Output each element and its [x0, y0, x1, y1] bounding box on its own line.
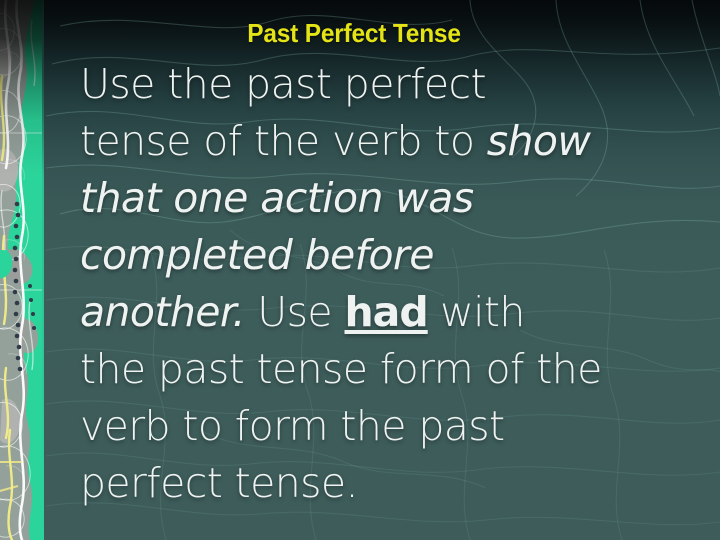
body-segment-italic: that one action was	[80, 174, 473, 222]
slide-canvas: Past Perfect Tense Use the past perfect …	[0, 0, 720, 540]
slide-body-text: Use the past perfect tense of the verb t…	[80, 56, 710, 512]
body-segment: tense of the verb to	[80, 117, 487, 165]
body-line: Use the past perfect	[80, 56, 710, 113]
body-segment-italic: another.	[80, 288, 245, 336]
body-line: another. Use had with	[80, 284, 710, 341]
body-segment: with	[428, 288, 525, 336]
body-segment: Use	[245, 288, 345, 336]
body-segment: the past tense form of the	[80, 345, 602, 393]
map-texture-graphic	[0, 0, 44, 540]
body-line: perfect tense.	[80, 455, 710, 512]
body-segment-emphasis-had: had	[344, 288, 427, 336]
body-segment-italic: show	[487, 117, 591, 165]
map-strip-accent-edge	[42, 0, 44, 540]
body-line: tense of the verb to show	[80, 113, 710, 170]
slide-title: Past Perfect Tense	[63, 18, 646, 48]
body-line: that one action was	[80, 170, 710, 227]
body-line: the past tense form of the	[80, 341, 710, 398]
body-segment-italic: completed before	[80, 231, 434, 279]
body-line: completed before	[80, 227, 710, 284]
body-line: verb to form the past	[80, 398, 710, 455]
body-segment: verb to form the past	[80, 402, 505, 450]
decorative-map-strip	[0, 0, 44, 540]
body-segment: Use the past perfect	[80, 60, 486, 108]
body-segment: perfect tense.	[80, 459, 358, 507]
